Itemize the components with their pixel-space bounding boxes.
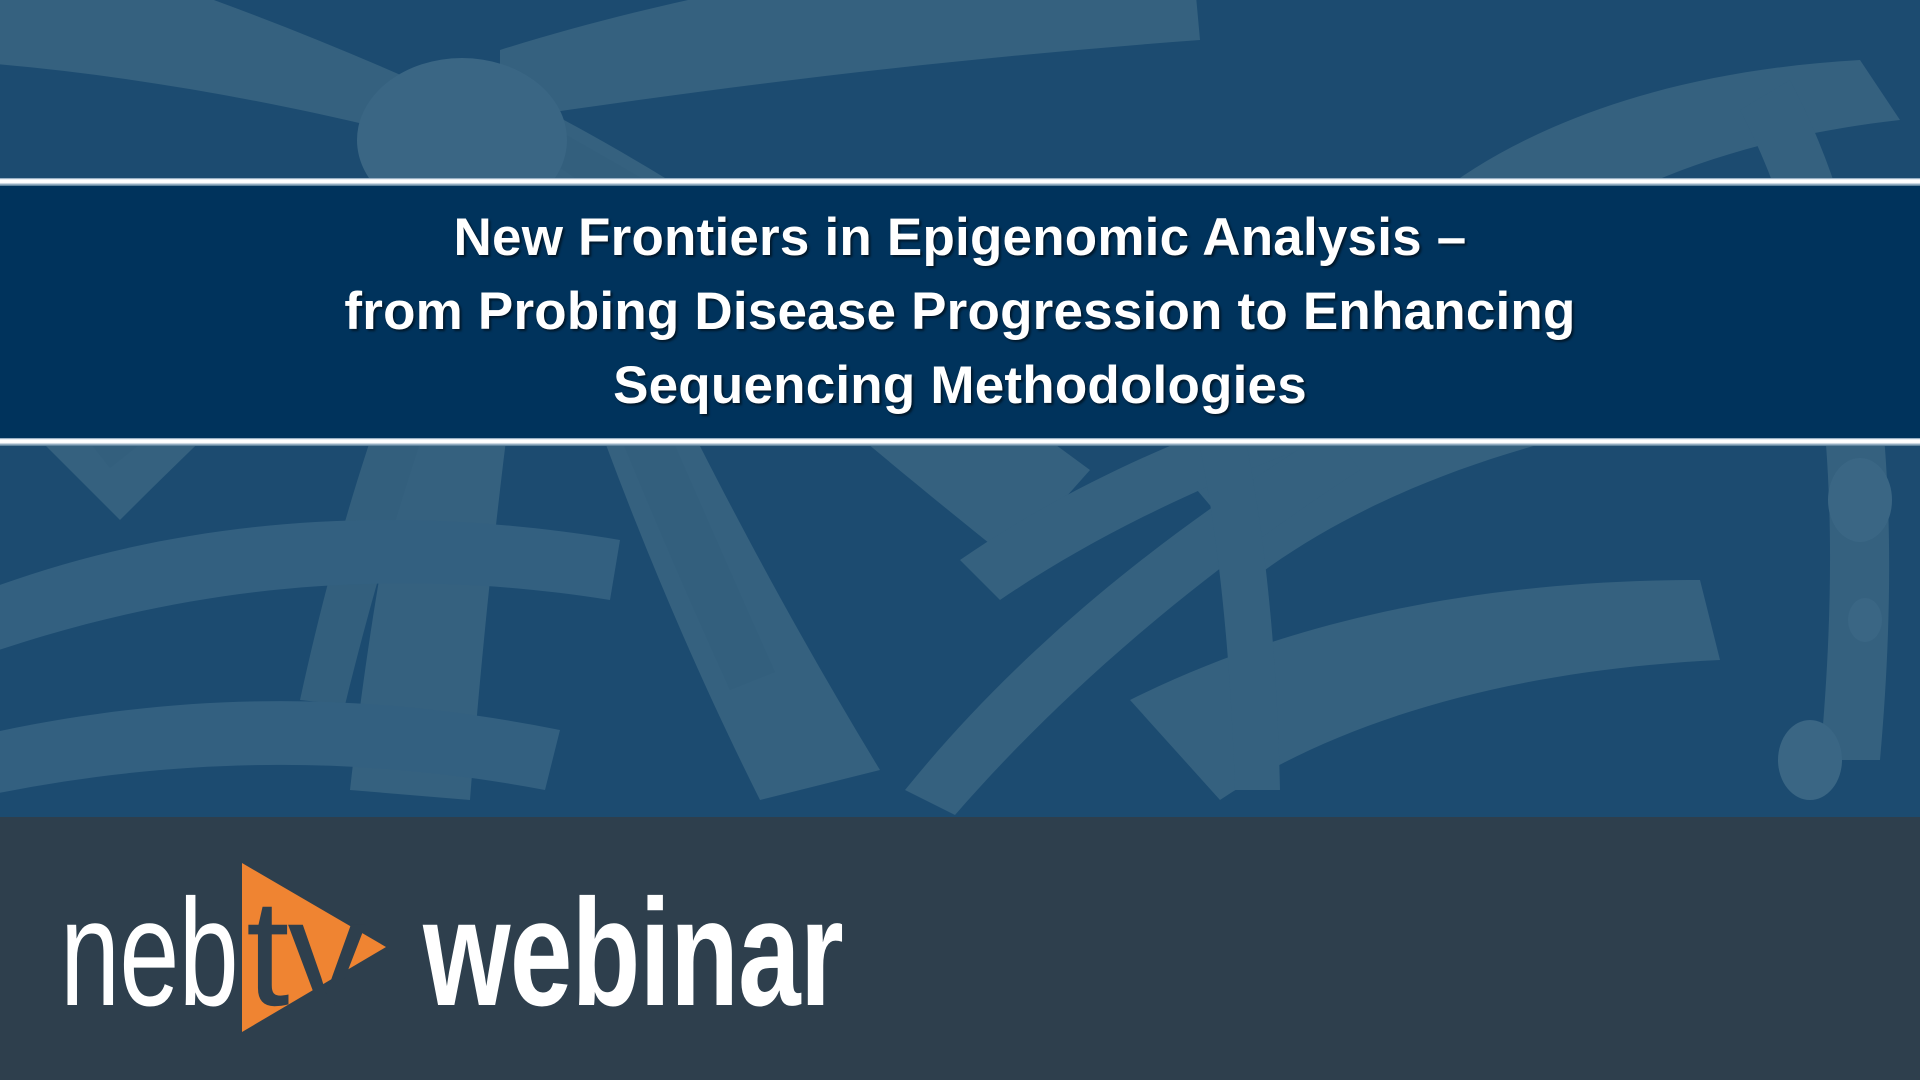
logo-webinar-text: webinar (422, 868, 843, 1038)
logo-neb-text: neb (60, 868, 238, 1038)
logo-tv-text: tv (246, 868, 366, 1038)
title-line-2: from Probing Disease Progression to Enha… (40, 275, 1880, 349)
title-band: New Frontiers in Epigenomic Analysis – f… (0, 186, 1920, 438)
title-band-bottom-rule (0, 438, 1920, 446)
slide-frame: New Frontiers in Epigenomic Analysis – f… (0, 0, 1920, 1080)
logo-bar: neb tv webinar (0, 817, 1920, 1080)
slide-background: New Frontiers in Epigenomic Analysis – f… (0, 0, 1920, 817)
title-line-3: Sequencing Methodologies (40, 349, 1880, 423)
page-title: New Frontiers in Epigenomic Analysis – f… (0, 201, 1920, 423)
title-line-1: New Frontiers in Epigenomic Analysis – (40, 201, 1880, 275)
title-band-top-rule (0, 178, 1920, 186)
nebtv-webinar-logo[interactable]: neb tv webinar (46, 855, 946, 1040)
